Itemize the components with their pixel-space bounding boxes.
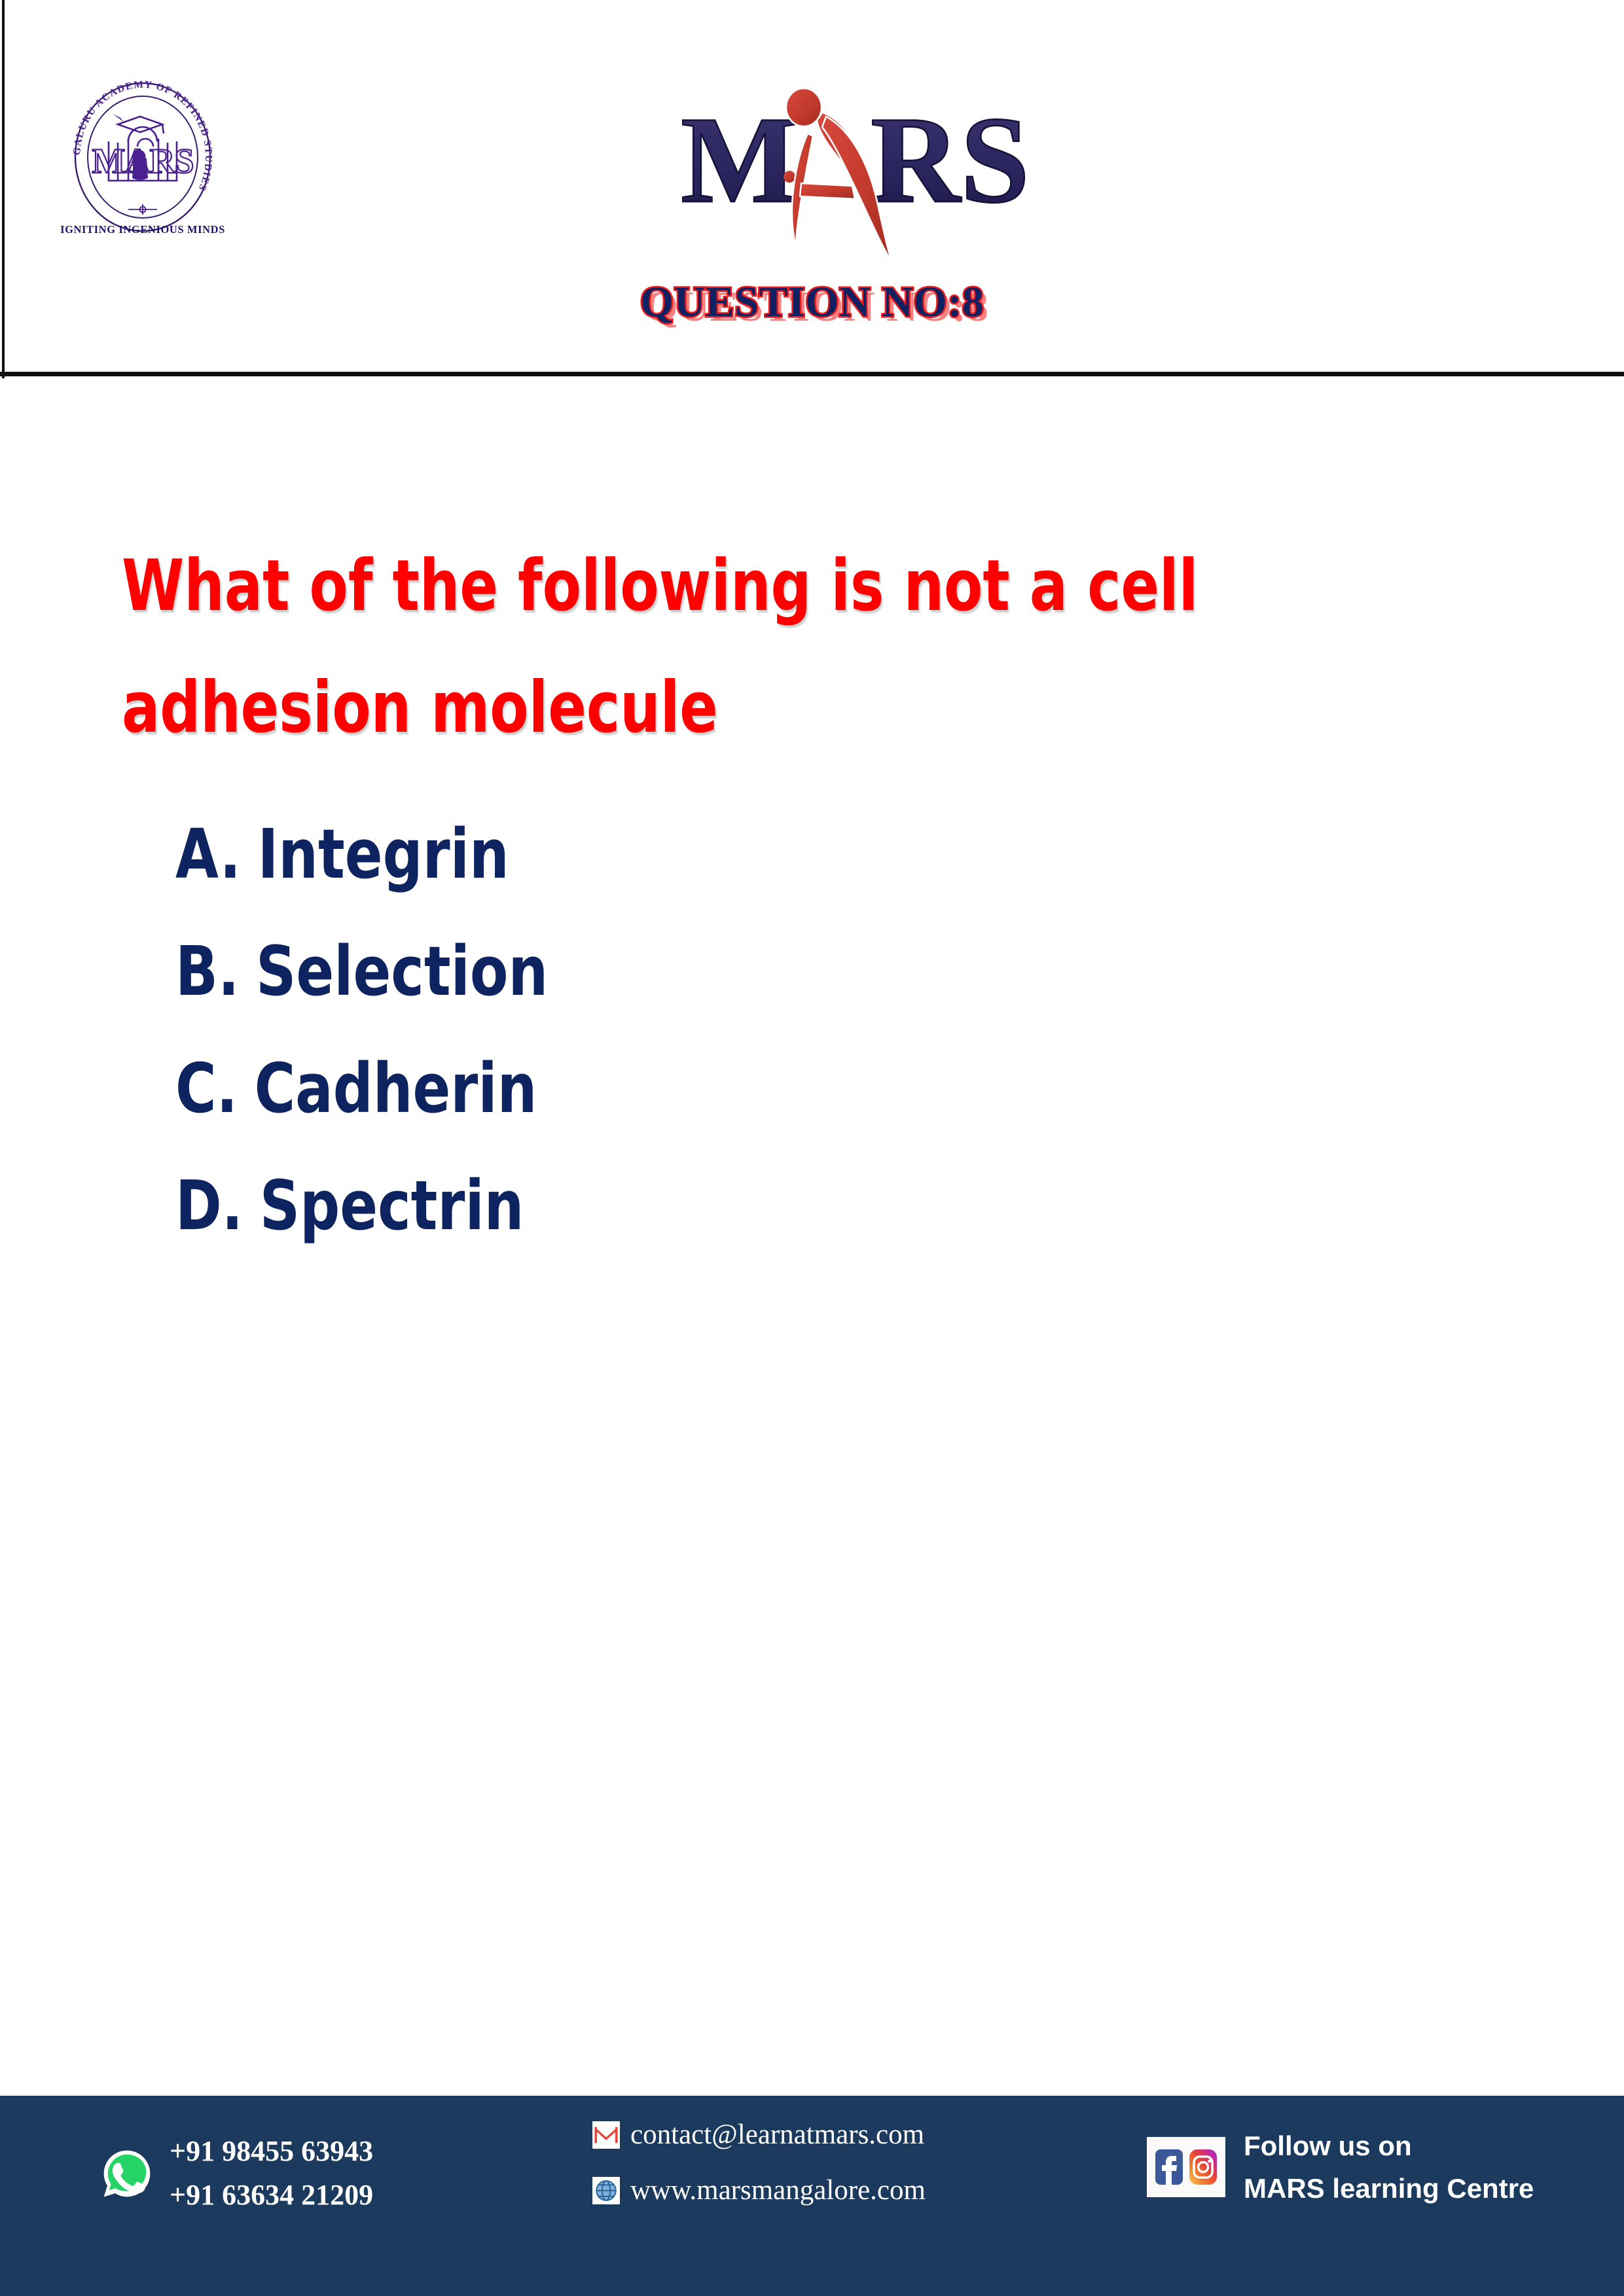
page-content: What of the following is not a cell adhe… (0, 378, 1624, 2096)
option-a[interactable]: A.Integrin (175, 796, 1088, 913)
footer-phone-group: +91 98455 63943 +91 63634 21209 (101, 2130, 373, 2217)
phone-number-1[interactable]: +91 98455 63943 (170, 2130, 373, 2174)
facebook-icon (1154, 2148, 1184, 2186)
footer-social-group: Follow us on MARS learning Centre (1147, 2125, 1534, 2210)
question-number-heading: QUESTION NO:8 (0, 278, 1624, 327)
email-row[interactable]: contact@learnatmars.com (592, 2121, 926, 2149)
option-b[interactable]: B.Selection (175, 913, 1088, 1030)
question-line-2: adhesion molecule (122, 647, 1555, 769)
whatsapp-icon (101, 2148, 153, 2199)
option-c-label: Cadherin (255, 1049, 537, 1128)
phone-number-2[interactable]: +91 63634 21209 (170, 2174, 373, 2217)
email-address[interactable]: contact@learnatmars.com (630, 2121, 924, 2149)
option-b-letter: B. (175, 931, 239, 1011)
phone-numbers: +91 98455 63943 +91 63634 21209 (170, 2130, 373, 2217)
mars-wordmark-logo: M RS (661, 71, 1041, 267)
globe-icon (592, 2177, 620, 2204)
website-url[interactable]: www.marsmangalore.com (630, 2176, 926, 2204)
question-line-1: What of the following is not a cell (122, 526, 1555, 647)
footer-contact-group: contact@learnatmars.com (592, 2121, 926, 2204)
instagram-icon (1188, 2148, 1218, 2186)
social-caption: Follow us on MARS learning Centre (1244, 2125, 1534, 2210)
social-caption-line-1: Follow us on (1244, 2125, 1534, 2167)
social-icons-box (1147, 2137, 1225, 2197)
website-row[interactable]: www.marsmangalore.com (592, 2176, 926, 2204)
gmail-icon (592, 2121, 620, 2149)
page-footer: +91 98455 63943 +91 63634 21209 (0, 2096, 1624, 2296)
answer-options-list: A.Integrin B.Selection C.Cadherin D.Spec… (175, 796, 1288, 1265)
option-c[interactable]: C.Cadherin (175, 1030, 1088, 1147)
option-d[interactable]: D.Spectrin (175, 1147, 1088, 1265)
question-page: MANGALURU ACADEMY OF REFINED STUDIES (0, 0, 1624, 2296)
option-a-letter: A. (175, 814, 241, 894)
option-d-letter: D. (175, 1166, 243, 1246)
svg-text:M: M (681, 92, 798, 229)
social-caption-line-2: MARS learning Centre (1244, 2167, 1534, 2210)
option-b-label: Selection (256, 931, 548, 1011)
question-body: What of the following is not a cell adhe… (122, 526, 1555, 769)
svg-text:RS: RS (871, 92, 1030, 229)
option-d-label: Spectrin (260, 1166, 524, 1246)
option-a-label: Integrin (258, 814, 509, 894)
header-divider (0, 372, 1624, 376)
svg-text:IGNITING INGENIOUS MINDS: IGNITING INGENIOUS MINDS (60, 223, 225, 236)
svg-text:MARS: MARS (92, 141, 194, 181)
option-c-letter: C. (175, 1049, 238, 1128)
academy-seal-logo: MANGALURU ACADEMY OF REFINED STUDIES (60, 71, 225, 240)
page-header: MANGALURU ACADEMY OF REFINED STUDIES (0, 0, 1624, 374)
